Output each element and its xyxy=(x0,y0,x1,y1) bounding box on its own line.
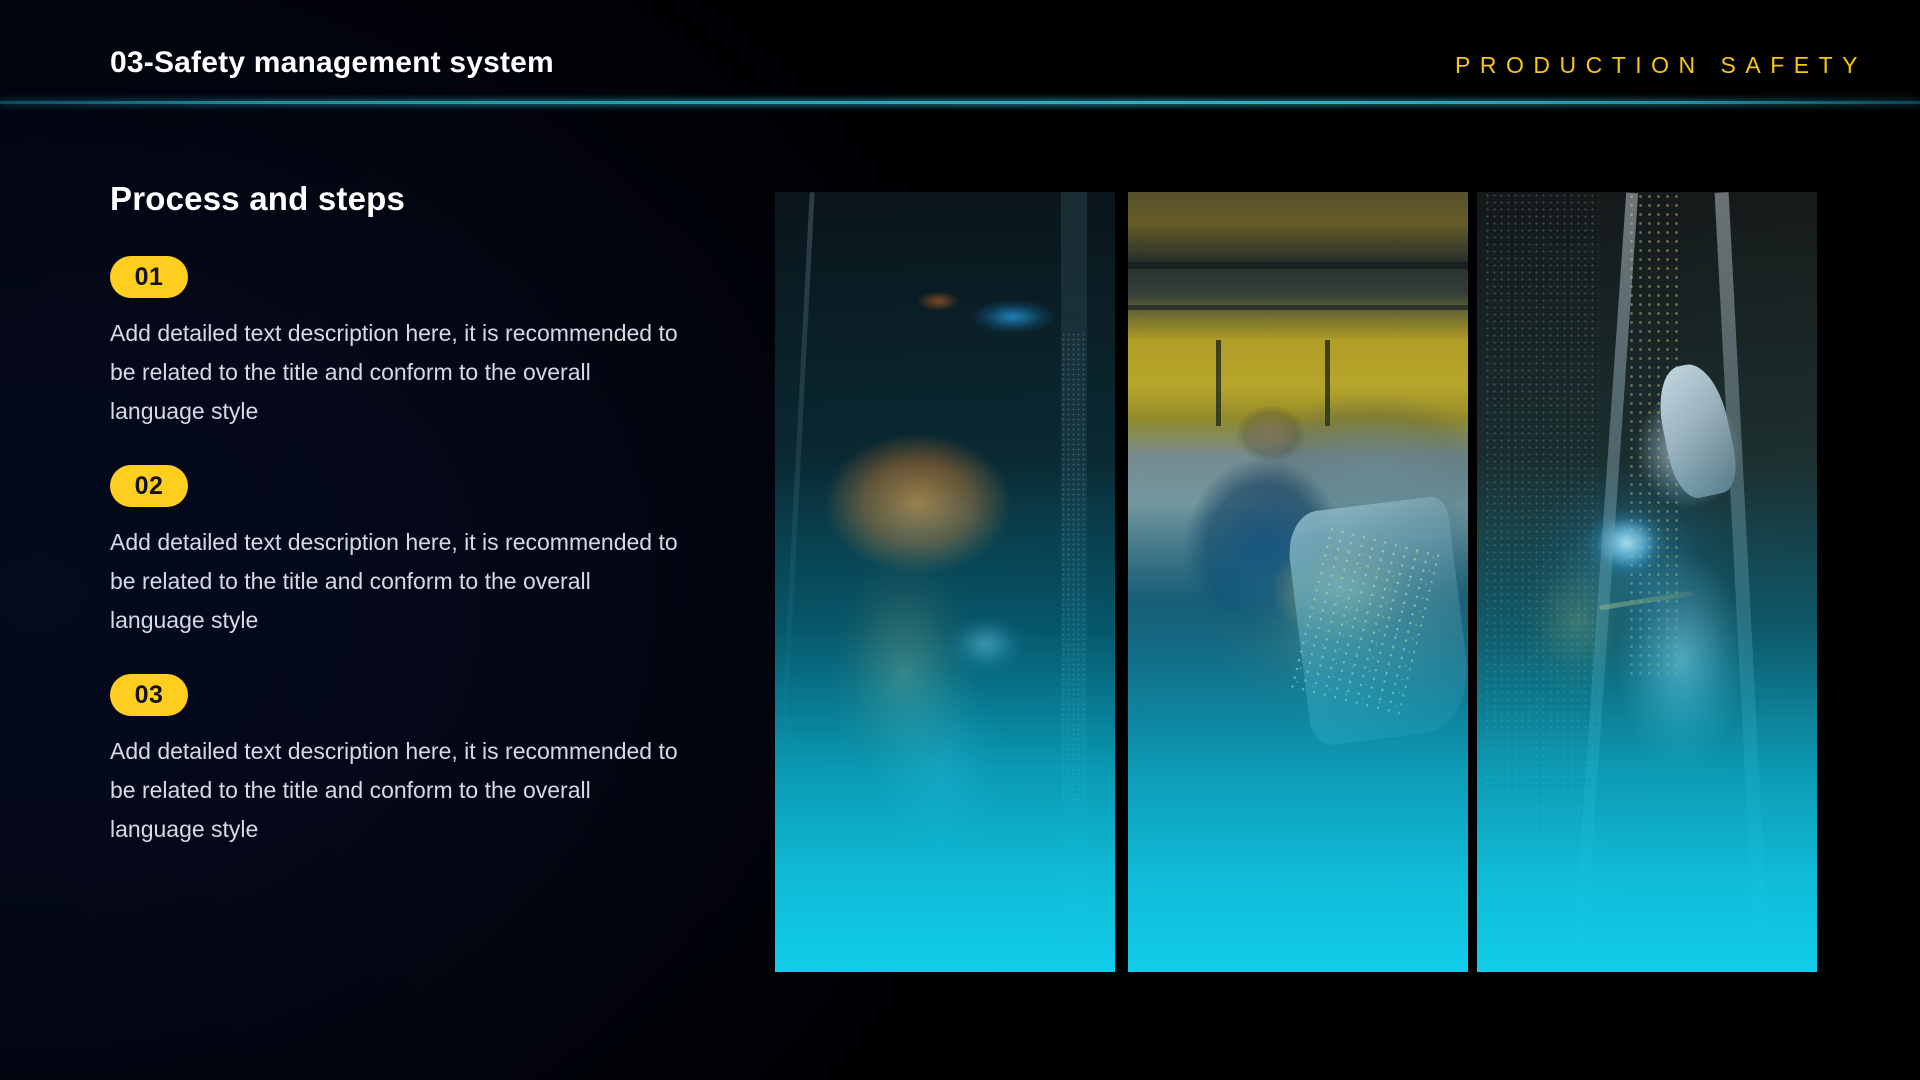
step-card-3[interactable]: Step 3 xyxy=(1477,192,1817,972)
step-card-1[interactable]: Step 1 xyxy=(775,192,1115,972)
step-image-gallery: Step 1 Step 2 xyxy=(0,0,1920,1080)
cyan-overlay-1 xyxy=(775,192,1115,972)
step-card-2[interactable]: Step 2 xyxy=(1128,192,1468,972)
cyan-overlay-3 xyxy=(1477,192,1817,972)
cyan-overlay-2 xyxy=(1128,192,1468,972)
